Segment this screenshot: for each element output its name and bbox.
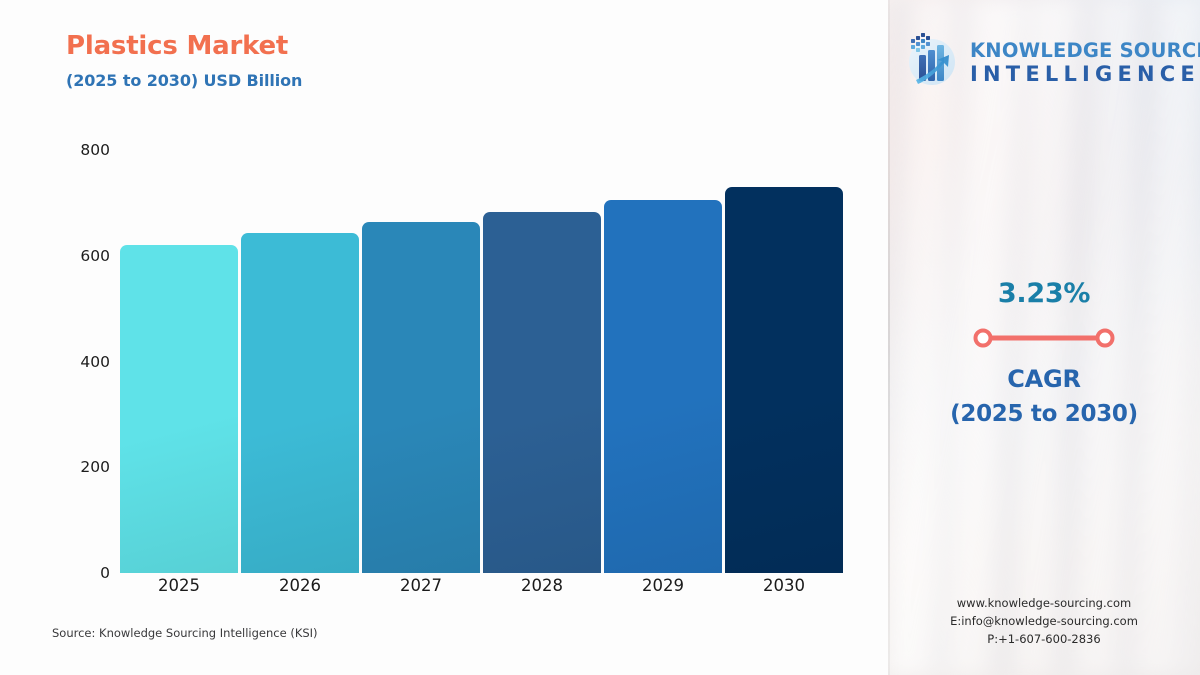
contact-phone: P:+1-607-600-2836 [888, 631, 1200, 649]
bar-2030[interactable] [725, 187, 843, 573]
y-axis-tick-label: 0 [50, 564, 110, 582]
x-axis-tick-label: 2030 [763, 576, 805, 595]
source-note: Source: Knowledge Sourcing Intelligence … [52, 626, 318, 640]
x-axis-tick-label: 2029 [642, 576, 684, 595]
cagr-value: 3.23% [888, 278, 1200, 309]
contact-website[interactable]: www.knowledge-sourcing.com [888, 595, 1200, 613]
infographic-page: Plastics Market (2025 to 2030) USD Billi… [0, 0, 1200, 675]
y-axis-tick-label: 800 [50, 141, 110, 159]
x-axis-tick-label: 2028 [521, 576, 563, 595]
company-logo: KNOWLEDGE SOURCING INTELLIGENCE [902, 28, 1194, 98]
cagr-period: (2025 to 2030) [888, 401, 1200, 427]
logo-line-1: KNOWLEDGE SOURCING [970, 41, 1200, 61]
cagr-label: CAGR [888, 365, 1200, 393]
logo-wordmark: KNOWLEDGE SOURCING INTELLIGENCE [970, 41, 1200, 86]
bar-chart-plot: 8006004002000 202520262027202820292030 [0, 0, 888, 675]
chart-panel: Plastics Market (2025 to 2030) USD Billi… [0, 0, 888, 675]
bars-layer [120, 150, 846, 573]
bar-2025[interactable] [120, 245, 238, 573]
bar-2026[interactable] [241, 233, 359, 573]
logo-line-2: INTELLIGENCE [970, 64, 1200, 85]
x-axis-tick-label: 2025 [158, 576, 200, 595]
knowledge-sourcing-emblem-icon [902, 31, 962, 95]
y-axis-tick-label: 200 [50, 458, 110, 476]
x-axis-tick-label: 2026 [279, 576, 321, 595]
y-axis-tick-label: 600 [50, 247, 110, 265]
bar-2029[interactable] [604, 200, 722, 573]
x-axis-tick-label: 2027 [400, 576, 442, 595]
cagr-block: 3.23% CAGR (2025 to 2030) [888, 278, 1200, 427]
cagr-connector-icon [971, 327, 1117, 349]
contact-email[interactable]: E:info@knowledge-sourcing.com [888, 613, 1200, 631]
bar-2028[interactable] [483, 212, 601, 573]
contact-block: www.knowledge-sourcing.com E:info@knowle… [888, 595, 1200, 648]
branding-panel: KNOWLEDGE SOURCING INTELLIGENCE 3.23% CA… [888, 0, 1200, 675]
bar-2027[interactable] [362, 222, 480, 573]
y-axis-tick-label: 400 [50, 353, 110, 371]
